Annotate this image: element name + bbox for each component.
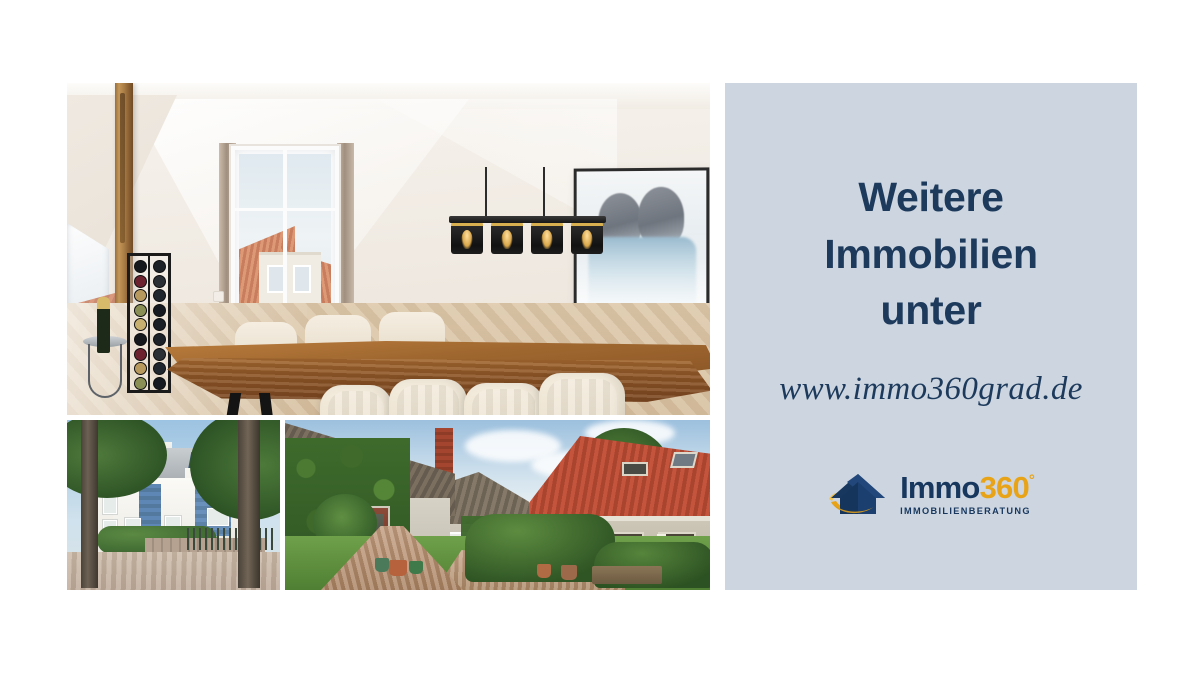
- wine-bottle: [153, 362, 166, 375]
- lamp-rod: [543, 167, 545, 217]
- wine-bottle: [153, 348, 166, 361]
- wine-rack-rail: [148, 256, 150, 390]
- wine-bottle: [134, 304, 147, 317]
- pendant-light-bar: [449, 216, 606, 223]
- wine-bottle: [134, 275, 147, 288]
- house-with-swoosh-icon: [827, 468, 889, 520]
- panel-headline: Weitere Immobilien unter: [725, 169, 1137, 339]
- lamp-shade: [491, 223, 523, 254]
- wine-bottle: [153, 275, 166, 288]
- neighbour-window: [293, 265, 311, 293]
- garden-bench: [592, 566, 662, 584]
- immo360-logo[interactable]: Immo 360 ° IMMOBILIENBERATUNG: [827, 468, 1035, 520]
- ivy-cottage-garden-photo: [285, 420, 710, 590]
- headline-line-3: unter: [725, 282, 1137, 339]
- flower-pot: [409, 561, 423, 574]
- cottage-scene: [285, 420, 710, 590]
- dining-chair: [389, 379, 467, 415]
- headline-line-1: Weitere: [725, 169, 1137, 226]
- white-blue-villa-photo: [67, 420, 280, 590]
- attic-dining-room-photo: [67, 83, 710, 415]
- roof-dormer-window: [622, 462, 648, 476]
- wine-bottle: [134, 362, 147, 375]
- flower-pot: [389, 560, 407, 576]
- flower-pot: [375, 558, 389, 572]
- dormer-window: [231, 146, 339, 326]
- slide-canvas: Weitere Immobilien unter www.immo360grad…: [0, 0, 1200, 675]
- wall-socket: [213, 291, 224, 302]
- dining-chair: [539, 373, 625, 415]
- window-mullion-horizontal: [235, 208, 335, 211]
- window-mullion-vertical: [283, 150, 287, 322]
- flower-pot: [561, 565, 577, 580]
- logo-wordmark: Immo 360 ° IMMOBILIENBERATUNG: [900, 472, 1035, 516]
- logo-name-accent: 360: [980, 472, 1029, 503]
- room-scene: [67, 83, 710, 415]
- lamp-shade: [531, 223, 563, 254]
- pendant-suspension-rods: [465, 167, 589, 217]
- wine-bottle: [153, 333, 166, 346]
- wine-bottle: [153, 289, 166, 302]
- logo-word-row: Immo 360 °: [900, 472, 1035, 503]
- dining-chair: [320, 385, 392, 415]
- logo-name-primary: Immo: [900, 472, 979, 503]
- wine-bottle: [134, 318, 147, 331]
- flower-pot: [537, 564, 551, 578]
- wine-rack: [127, 253, 171, 393]
- dining-chair: [464, 383, 544, 415]
- skylight-icon: [670, 452, 698, 468]
- tree-left: [67, 420, 127, 590]
- wine-bottle: [134, 348, 147, 361]
- website-url[interactable]: www.immo360grad.de: [725, 371, 1137, 408]
- lamp-shade: [571, 223, 603, 254]
- lamp-rod: [485, 167, 487, 217]
- wine-bottle: [134, 289, 147, 302]
- wine-bottle: [134, 377, 147, 390]
- champagne-bottle: [97, 297, 110, 353]
- lamp-shade: [451, 223, 483, 254]
- wine-bottle: [134, 333, 147, 346]
- tree-trunk: [238, 420, 260, 588]
- info-panel: Weitere Immobilien unter www.immo360grad…: [725, 83, 1137, 590]
- tree-trunk: [81, 420, 98, 588]
- wine-bottle: [153, 304, 166, 317]
- wine-bottle: [153, 377, 166, 390]
- villa-scene: [67, 420, 280, 590]
- headline-line-2: Immobilien: [725, 226, 1137, 283]
- pendant-lamp-shades: [449, 223, 606, 257]
- logo-degree-symbol: °: [1029, 473, 1035, 488]
- logo-tagline: IMMOBILIENBERATUNG: [900, 506, 1031, 516]
- tree-right: [210, 420, 280, 590]
- wine-bottle: [134, 260, 147, 273]
- wine-bottle: [153, 260, 166, 273]
- wine-bottle: [153, 318, 166, 331]
